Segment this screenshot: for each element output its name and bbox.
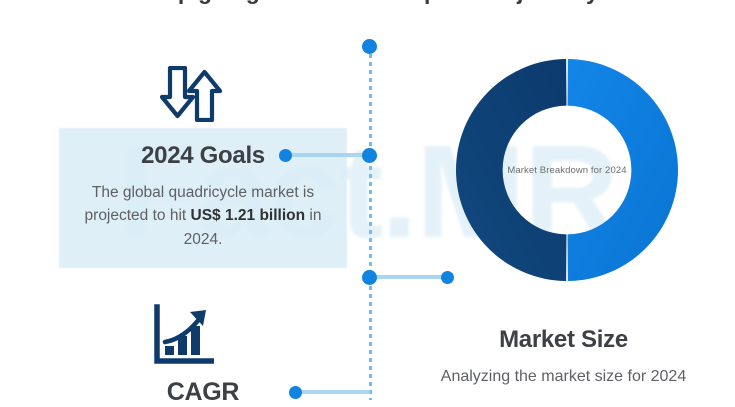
goals-body: The global quadricycle market is project… [59, 181, 347, 251]
timeline-node-cagr[interactable] [289, 386, 302, 399]
timeline-node-top[interactable] [362, 39, 377, 54]
page-title: Keep going on a market expansion journey [0, 0, 735, 5]
market-breakdown-donut-chart: Market Breakdown for 2024 [453, 56, 681, 284]
market-size-title: Market Size [392, 326, 735, 354]
cagr-title: CAGR [59, 378, 347, 407]
timeline-node-goals-card[interactable] [279, 149, 292, 162]
market-size-subtitle: Analyzing the market size for 2024 [392, 368, 735, 386]
goals-title: 2024 Goals [59, 142, 347, 170]
timeline-node-market-end[interactable] [441, 271, 454, 284]
timeline-node-goals[interactable] [362, 148, 377, 163]
donut-slice[interactable] [568, 59, 678, 281]
up-down-arrows-icon [160, 66, 222, 122]
donut-slice[interactable] [456, 59, 566, 281]
timeline-node-market-size[interactable] [362, 270, 377, 285]
timeline-spine [369, 46, 372, 400]
growth-chart-icon [152, 304, 214, 366]
goals-body-highlight: US$ 1.21 billion [191, 207, 306, 224]
connector-market-size [370, 275, 447, 279]
goals-text-block: 2024 Goals The global quadricycle market… [59, 128, 347, 251]
